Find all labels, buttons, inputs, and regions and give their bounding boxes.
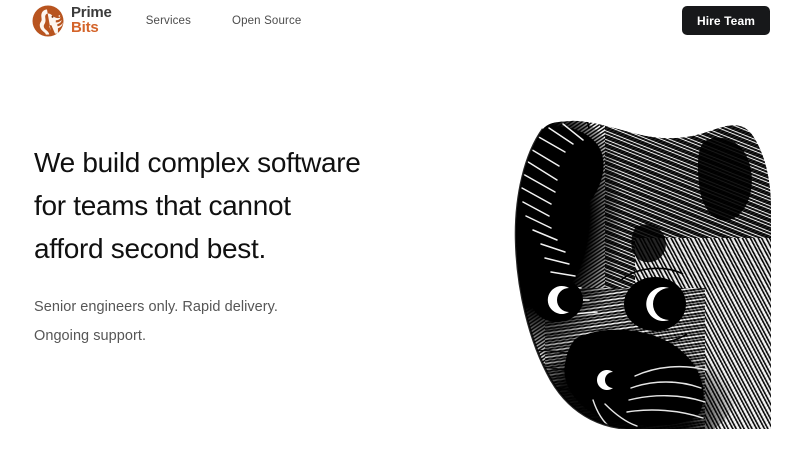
nav-item-services[interactable]: Services (146, 15, 191, 27)
main-navigation: Services Open Source (146, 15, 302, 27)
brand-name-bottom: Bits (71, 20, 112, 36)
nose (579, 360, 627, 400)
hero-headline-line: for teams that cannot (34, 190, 291, 221)
hero-headline-line: afford second best. (34, 233, 266, 264)
hero-copy: We build complex software for teams that… (34, 141, 454, 351)
hero-headline-line: We build complex software (34, 147, 361, 178)
brand-logo[interactable]: Prime Bits (32, 5, 112, 37)
hero-subheadline-line: Ongoing support. (34, 328, 146, 344)
hire-team-button[interactable]: Hire Team (682, 6, 770, 35)
brand-wordmark: Prime Bits (71, 5, 112, 36)
hero-headline: We build complex software for teams that… (34, 141, 454, 270)
hero-section: We build complex software for teams that… (0, 41, 800, 450)
nav-item-open-source[interactable]: Open Source (232, 15, 301, 27)
landing-page: Prime Bits Services Open Source Hire Tea… (0, 0, 800, 450)
left-eye (531, 278, 583, 322)
hero-subheadline: Senior engineers only. Rapid delivery. O… (34, 293, 454, 351)
hero-subheadline-line: Senior engineers only. Rapid delivery. (34, 299, 278, 315)
meerkat-head-badge-icon (32, 5, 64, 37)
brand-name-top: Prime (71, 5, 112, 20)
site-header: Prime Bits Services Open Source Hire Tea… (0, 0, 800, 41)
mongoose-head-engraving-illustration (485, 88, 771, 429)
